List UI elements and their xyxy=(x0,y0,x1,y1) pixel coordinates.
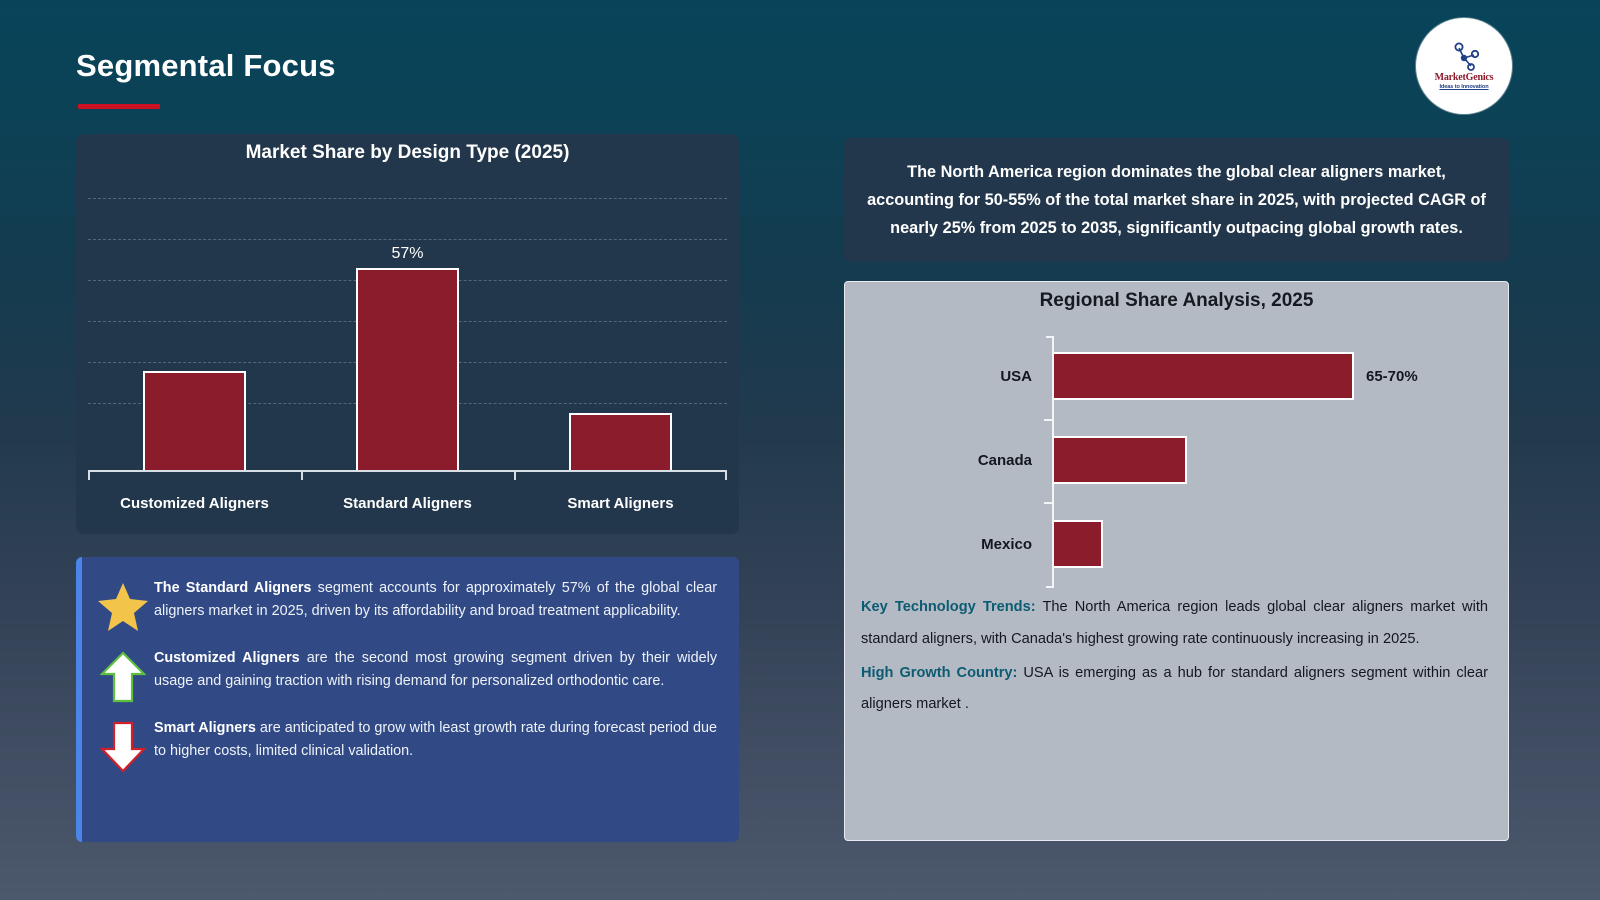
x-axis-label: Customized Aligners xyxy=(88,495,301,512)
bar-column: 57% xyxy=(301,186,514,470)
logo-name: MarketGenics xyxy=(1435,73,1494,83)
y-axis-tick xyxy=(1044,419,1053,421)
note-paragraph: Key Technology Trends: The North America… xyxy=(861,592,1488,656)
region-callout: The North America region dominates the g… xyxy=(844,138,1509,262)
hbar-row: USA65-70% xyxy=(845,352,1482,400)
x-axis-labels: Customized AlignersStandard AlignersSmar… xyxy=(88,495,727,512)
y-axis-tick xyxy=(1044,502,1053,504)
x-axis-label: Standard Aligners xyxy=(301,495,514,512)
design-type-plot-area: 57% xyxy=(88,186,727,470)
insight-icon-wrap xyxy=(92,717,154,773)
x-axis-tick xyxy=(301,472,303,480)
regional-chart-title: Regional Share Analysis, 2025 xyxy=(845,282,1508,312)
x-axis-tick xyxy=(725,472,727,480)
logo: MarketGenics Ideas to Innovation xyxy=(1416,18,1512,114)
x-axis-label: Smart Aligners xyxy=(514,495,727,512)
insight-text: Customized Aligners are the second most … xyxy=(154,647,723,694)
insight-row: Customized Aligners are the second most … xyxy=(92,647,723,703)
y-axis-cap xyxy=(1046,586,1054,588)
bar-series: 57% xyxy=(88,186,727,470)
insight-icon-wrap xyxy=(92,577,154,633)
regional-notes: Key Technology Trends: The North America… xyxy=(845,586,1508,721)
hbar-category-label: USA xyxy=(845,368,1042,385)
logo-tagline: Ideas to Innovation xyxy=(1439,84,1488,90)
bar[interactable] xyxy=(143,371,246,470)
insight-text: The Standard Aligners segment accounts f… xyxy=(154,577,723,624)
title-underline-rule xyxy=(78,104,160,109)
insight-text: Smart Aligners are anticipated to grow w… xyxy=(154,717,723,764)
hbar[interactable] xyxy=(1054,352,1354,400)
network-nodes-icon xyxy=(1447,42,1481,72)
x-axis xyxy=(88,470,727,478)
design-type-chart-panel: Market Share by Design Type (2025) 57% C… xyxy=(76,134,739,534)
hbar[interactable] xyxy=(1054,436,1187,484)
hbar-row: Mexico xyxy=(845,520,1482,568)
design-type-chart-title: Market Share by Design Type (2025) xyxy=(76,134,739,164)
bar[interactable] xyxy=(356,268,459,470)
x-axis-tick xyxy=(514,472,516,480)
insight-icon-wrap xyxy=(92,647,154,703)
note-paragraph: High Growth Country: USA is emerging as … xyxy=(861,658,1488,722)
hbar-value-label: 65-70% xyxy=(1366,368,1418,385)
hbar-category-label: Mexico xyxy=(845,536,1042,553)
bar-column xyxy=(514,186,727,470)
insight-row: Smart Aligners are anticipated to grow w… xyxy=(92,717,723,773)
regional-plot-area: USA65-70%CanadaMexico xyxy=(845,326,1482,586)
segment-insights-card: The Standard Aligners segment accounts f… xyxy=(76,557,739,842)
hbar-row: Canada xyxy=(845,436,1482,484)
star-icon xyxy=(96,581,150,633)
hbar-category-label: Canada xyxy=(845,452,1042,469)
regional-share-panel: Regional Share Analysis, 2025 USA65-70%C… xyxy=(844,281,1509,841)
hbar[interactable] xyxy=(1054,520,1103,568)
x-axis-tick xyxy=(88,472,90,480)
y-axis-cap xyxy=(1046,336,1054,338)
page-title: Segmental Focus xyxy=(76,48,336,84)
insight-row: The Standard Aligners segment accounts f… xyxy=(92,577,723,633)
bar[interactable] xyxy=(569,413,672,470)
bar-value-label: 57% xyxy=(391,245,423,263)
arrow-up-icon xyxy=(100,651,146,703)
arrow-down-icon xyxy=(100,721,146,773)
bar-column xyxy=(88,186,301,470)
region-callout-text: The North America region dominates the g… xyxy=(866,158,1487,242)
